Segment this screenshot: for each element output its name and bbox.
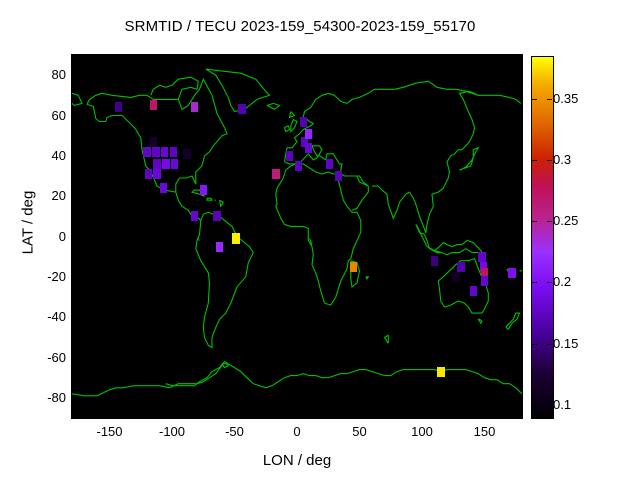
y-tick-label: -80 [26,390,66,405]
heatmap-cell [143,147,151,157]
y-tick-mark [72,156,77,157]
x-tick-label: -50 [205,424,265,439]
y-tick-label: 60 [26,108,66,123]
heatmap-cell [170,147,178,157]
chart-title: SRMTID / TECU 2023-159_54300-2023-159_55… [0,18,600,35]
colorbar-tick-mark [532,344,537,345]
x-tick-label: -150 [80,424,140,439]
colorbar-tick-label: 0.35 [553,91,578,106]
heatmap-cell [478,252,486,262]
heatmap-cell [213,211,221,221]
colorbar-tick-label: 0.25 [553,213,578,228]
colorbar-tick-label: 0.3 [553,152,571,167]
y-tick-mark [72,317,77,318]
heatmap-cell [238,104,246,114]
heatmap-cell [335,171,343,181]
colorbar-tick-mark [547,99,552,100]
y-tick-label: 80 [26,67,66,82]
colorbar-tick-label: 0.2 [553,274,571,289]
heatmap-cell [437,367,445,377]
heatmap-cell [452,272,460,282]
heatmap-cell [326,159,334,169]
y-tick-label: 0 [26,229,66,244]
heatmap-cell [150,137,158,147]
x-tick-mark [172,413,173,418]
y-tick-label: -20 [26,269,66,284]
x-tick-mark [485,413,486,418]
colorbar-tick-mark [532,99,537,100]
heatmap-cell [295,161,303,171]
y-tick-mark [72,277,77,278]
colorbar-tick-mark [547,344,552,345]
heatmap-cell [115,102,123,112]
heatmap-cell [508,268,516,278]
heatmap-cell [232,233,240,243]
figure-canvas: SRMTID / TECU 2023-159_54300-2023-159_55… [0,0,640,480]
colorbar-tick-mark [547,221,552,222]
colorbar-tick-mark [532,160,537,161]
x-tick-mark [422,413,423,418]
heatmap-cell [272,169,280,179]
heatmap-cell [153,159,161,169]
y-tick-label: 40 [26,148,66,163]
colorbar-gradient [532,57,553,418]
x-tick-label: -100 [142,424,202,439]
colorbar-tick-mark [547,282,552,283]
map-plot-area[interactable] [72,55,522,418]
x-tick-label: 0 [267,424,327,439]
heatmap-cell [350,262,358,272]
y-tick-label: 20 [26,188,66,203]
heatmap-cell [457,262,465,272]
heatmap-cell [300,117,308,127]
colorbar-tick-mark [547,160,552,161]
colorbar-tick-mark [532,282,537,283]
heatmap-cell [160,183,168,193]
heatmap-cell [286,151,294,161]
x-tick-mark [110,413,111,418]
y-tick-mark [72,116,77,117]
x-axis-label: LON / deg [72,452,522,469]
colorbar-tick-mark [547,405,552,406]
heatmap-cell [191,102,199,112]
heatmap-cell [470,286,478,296]
heatmap-cell [161,147,169,157]
heatmap-cell [145,169,153,179]
x-tick-label: 100 [392,424,452,439]
heatmap-cell [431,256,439,266]
y-tick-mark [72,237,77,238]
heatmap-cell [305,129,313,139]
y-tick-mark [72,398,77,399]
y-tick-mark [72,358,77,359]
heatmap-cell [183,149,191,159]
y-tick-label: -60 [26,350,66,365]
x-tick-mark [235,413,236,418]
x-tick-mark [360,413,361,418]
colorbar-tick-label: 0.1 [553,397,571,412]
heatmap-cell [153,169,161,179]
heatmap-cell [150,100,158,110]
y-tick-mark [72,196,77,197]
heatmap-cell [216,242,224,252]
heatmap-cells[interactable] [72,55,522,418]
heatmap-cell [162,159,170,169]
heatmap-cell [171,159,179,169]
y-tick-mark [72,75,77,76]
colorbar-tick-mark [532,405,537,406]
colorbar-tick-label: 0.15 [553,336,578,351]
colorbar-tick-mark [532,221,537,222]
x-tick-label: 150 [455,424,515,439]
colorbar[interactable] [531,56,554,419]
heatmap-cell [152,147,160,157]
heatmap-cell [481,276,489,286]
heatmap-cell [200,185,208,195]
x-tick-label: 50 [330,424,390,439]
heatmap-cell [191,211,199,221]
y-tick-label: -40 [26,309,66,324]
x-tick-mark [297,413,298,418]
heatmap-cell [305,143,313,153]
